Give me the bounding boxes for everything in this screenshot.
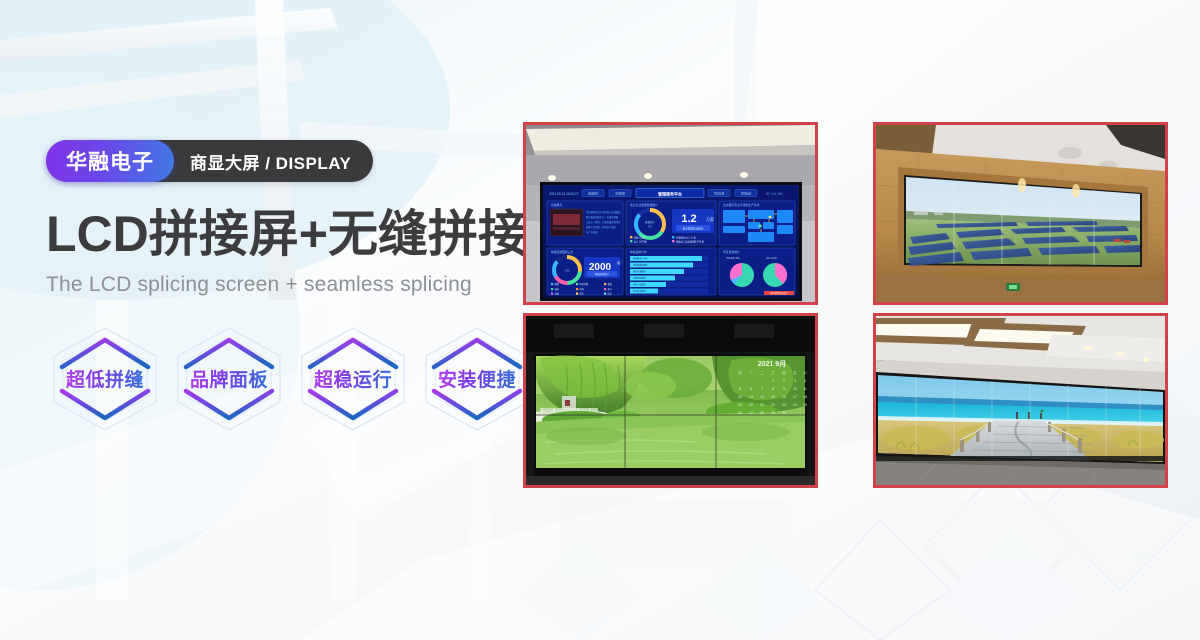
svg-text:管理系统: 管理系统 — [741, 192, 752, 196]
svg-text:2021 9月: 2021 9月 — [758, 360, 786, 368]
svg-text:市场数据: 市场数据 — [615, 192, 626, 196]
display-product-banner: 华融电子 商显大屏 / DISPLAY LCD拼接屏+无缝拼接 The LCD … — [0, 0, 1200, 640]
svg-text:基础概况: 基础概况 — [588, 192, 599, 196]
svg-text:22: 22 — [771, 403, 775, 407]
svg-text:5: 5 — [739, 387, 741, 391]
svg-text:亩: 亩 — [617, 260, 621, 265]
svg-text:9: 9 — [783, 387, 785, 391]
svg-text:16: 16 — [782, 395, 786, 399]
feature-label: 超低拼缝 — [66, 365, 144, 392]
svg-text:环境监测: 环境监测 — [714, 192, 725, 196]
svg-text:29: 29 — [771, 411, 775, 415]
svg-text:四: 四 — [782, 371, 786, 375]
svg-text:17: 17 — [793, 395, 797, 399]
headline-column: 华融电子 商显大屏 / DISPLAY LCD拼接屏+无缝拼接 The LCD … — [46, 140, 546, 435]
svg-text:种植品种分布: 种植品种分布 — [630, 250, 647, 254]
svg-text:重点企业质量数据统计: 重点企业质量数据统计 — [630, 203, 658, 207]
svg-text:用户 中文 | 退出: 用户 中文 | 退出 — [766, 192, 784, 196]
photo-landscape-video-wall[interactable]: 2021 9月 日一二 三四五六 1234 567 891011 121314 … — [523, 313, 818, 488]
dashboard-video-wall-photo: 2021-09-13 16:01:27 管理服务平台 基础概况 市场数据 环境监… — [526, 125, 815, 302]
svg-text:占比: 占比 — [565, 268, 570, 272]
svg-text:7: 7 — [761, 387, 763, 391]
svg-text:27: 27 — [749, 411, 753, 415]
svg-text:三: 三 — [771, 371, 775, 375]
page-subtitle: The LCD splicing screen + seamless splic… — [46, 273, 546, 297]
svg-text:14: 14 — [760, 395, 764, 399]
svg-text:种植区域面积占比: 种植区域面积占比 — [551, 250, 574, 254]
svg-text:6: 6 — [750, 387, 752, 391]
svg-text:数据统计: 数据统计 — [645, 220, 655, 224]
feature-label: 安装便捷 — [438, 365, 516, 392]
feature-badge-list: 超低拼缝 品牌面板 超稳运行 — [46, 323, 546, 435]
brand-pill: 华融电子 商显大屏 / DISPLAY — [46, 140, 373, 182]
svg-text:万家: 万家 — [706, 216, 714, 222]
svg-text:1.2: 1.2 — [681, 213, 696, 225]
svg-text:2021-09-13 16:01:27: 2021-09-13 16:01:27 — [549, 192, 579, 196]
photo-dashboard-video-wall[interactable]: 2021-09-13 16:01:27 管理服务平台 基础概况 市场数据 环境监… — [523, 122, 818, 305]
svg-text:20: 20 — [749, 403, 753, 407]
svg-text:基础概况: 基础概况 — [551, 203, 562, 207]
svg-text:六: 六 — [803, 370, 807, 375]
feature-badge: 安装便捷 — [418, 323, 536, 435]
svg-text:30: 30 — [782, 411, 786, 415]
feature-label: 超稳运行 — [314, 365, 392, 392]
svg-text:管理服务平台: 管理服务平台 — [658, 190, 682, 196]
brand-category: 商显大屏 / DISPLAY — [174, 140, 373, 182]
svg-text:13: 13 — [749, 395, 753, 399]
svg-text:生态循环农业与绿色生产基地: 生态循环农业与绿色生产基地 — [723, 203, 760, 207]
svg-text:1: 1 — [772, 379, 774, 383]
svg-text:25: 25 — [803, 403, 807, 407]
svg-text:19: 19 — [738, 403, 742, 407]
landscape-video-wall-photo: 2021 9月 日一二 三四五六 1234 567 891011 121314 … — [526, 316, 815, 485]
svg-text:10: 10 — [793, 387, 797, 391]
svg-text:五: 五 — [793, 371, 797, 375]
svg-text:26: 26 — [738, 411, 742, 415]
feature-badge: 超低拼缝 — [46, 323, 164, 435]
svg-text:二: 二 — [760, 371, 764, 375]
page-title: LCD拼接屏+无缝拼接 — [46, 208, 546, 261]
feature-badge: 品牌面板 — [170, 323, 288, 435]
svg-text:15: 15 — [771, 395, 775, 399]
svg-text:4: 4 — [804, 379, 806, 383]
product-photo-grid: 2021-09-13 16:01:27 管理服务平台 基础概况 市场数据 环境监… — [523, 122, 1171, 488]
svg-text:21: 21 — [760, 403, 764, 407]
beach-boardwalk-video-wall-photo — [876, 316, 1165, 485]
photo-solar-farm-video-wall[interactable] — [873, 122, 1168, 305]
svg-text:24: 24 — [793, 403, 797, 407]
feature-label: 品牌面板 — [190, 365, 268, 392]
svg-text:一: 一 — [749, 371, 753, 375]
svg-text:18: 18 — [803, 395, 807, 399]
svg-text:3: 3 — [794, 379, 796, 383]
svg-text:年度监测统计: 年度监测统计 — [723, 250, 740, 254]
svg-text:日: 日 — [738, 371, 742, 375]
svg-text:28: 28 — [760, 411, 764, 415]
solar-farm-video-wall-photo — [876, 125, 1165, 302]
svg-text:12: 12 — [738, 395, 742, 399]
svg-text:23: 23 — [782, 403, 786, 407]
photo-beach-boardwalk-video-wall[interactable] — [873, 313, 1168, 488]
svg-text:2: 2 — [783, 379, 785, 383]
svg-text:种植面积统计: 种植面积统计 — [595, 272, 610, 276]
brand-name: 华融电子 — [46, 140, 174, 182]
svg-text:重点区域企业统计: 重点区域企业统计 — [683, 226, 704, 230]
svg-text:11: 11 — [803, 387, 807, 391]
svg-text:8: 8 — [772, 387, 774, 391]
feature-badge: 超稳运行 — [294, 323, 412, 435]
